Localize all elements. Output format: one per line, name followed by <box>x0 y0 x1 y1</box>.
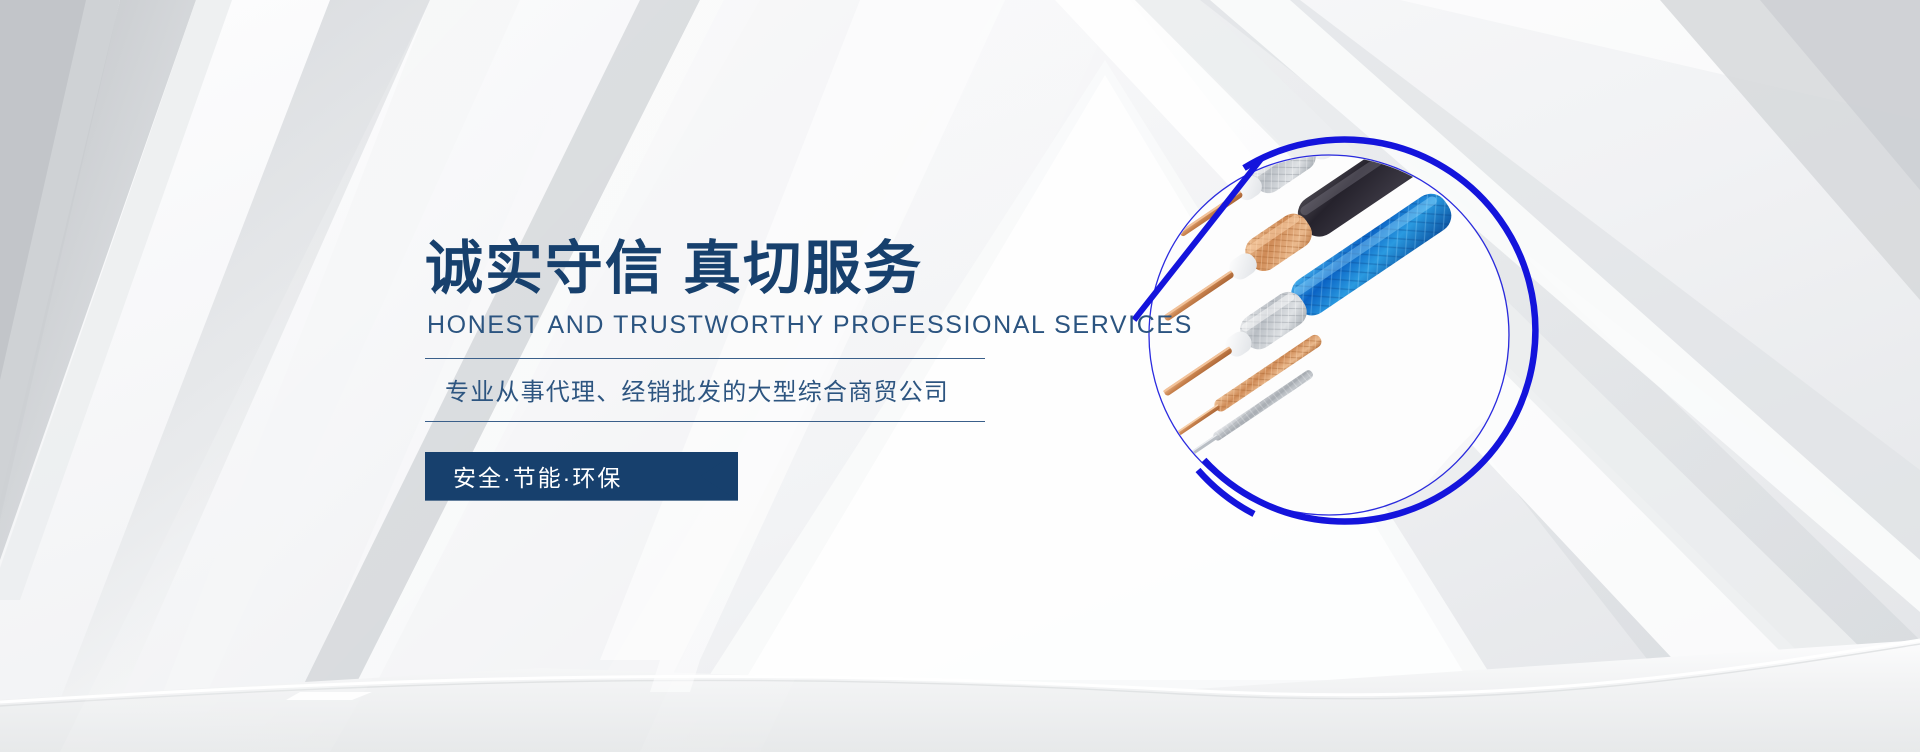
feature-ribbon-label: 安全·节能·环保 <box>453 459 622 493</box>
feature-ribbon: 安全·节能·环保 <box>425 452 738 501</box>
product-medallion <box>1144 150 1514 520</box>
page-title: 诚实守信 真切服务 <box>425 238 1065 301</box>
hero-text-block: 诚实守信 真切服务 HONEST AND TRUSTWORTHY PROFESS… <box>425 238 1065 501</box>
subtitle-english: HONEST AND TRUSTWORTHY PROFESSIONAL SERV… <box>427 311 1065 340</box>
hero-banner: 诚实守信 真切服务 HONEST AND TRUSTWORTHY PROFESS… <box>0 0 1920 752</box>
feature-ribbon-shape: 安全·节能·环保 <box>425 452 738 501</box>
cable-photo <box>1150 156 1508 514</box>
tagline-chinese: 专业从事代理、经销批发的大型综合商贸公司 <box>445 372 985 407</box>
tagline-rule-box: 专业从事代理、经销批发的大型综合商贸公司 <box>425 358 985 422</box>
